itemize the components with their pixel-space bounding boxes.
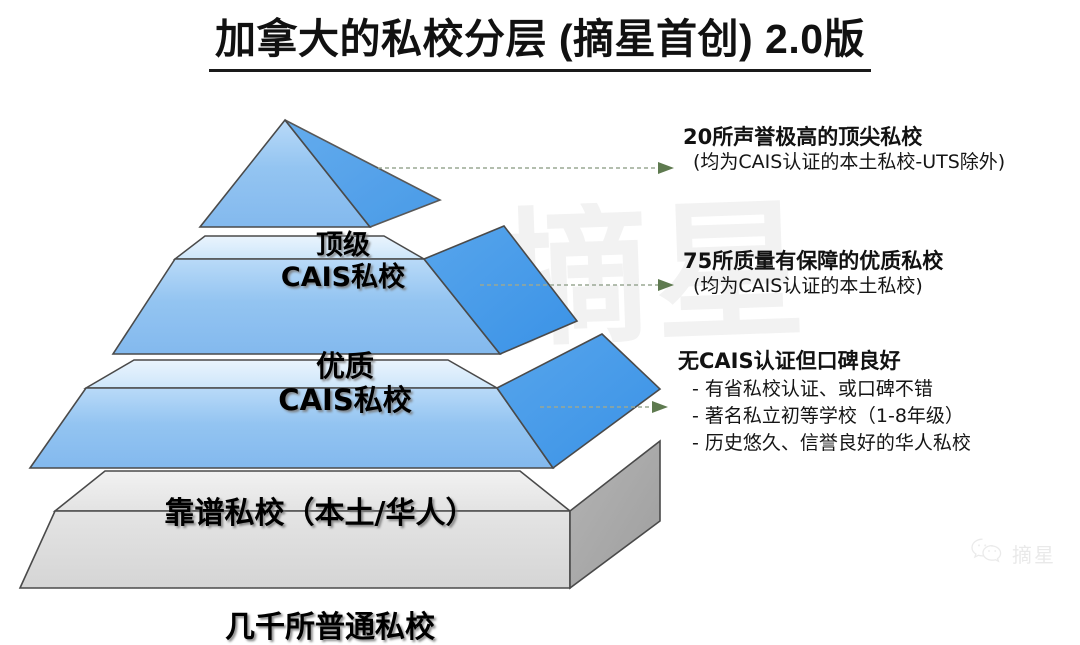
annotation-top-heading: 20所声誉极高的顶尖私校 (683, 124, 1005, 150)
wechat-icon (970, 537, 1004, 570)
annotation-reliable-bullet: - 历史悠久、信誉良好的华人私校 (678, 430, 971, 457)
title-container: 加拿大的私校分层 (摘星首创) 2.0版 (0, 14, 1080, 72)
tier-label-ordinary: 几千所普通私校 (95, 610, 565, 645)
annotation-reliable-bullet: - 有省私校认证、或口碑不错 (678, 376, 971, 403)
annotation-quality: 75所质量有保障的优质私校 (均为CAIS认证的本土私校) (683, 248, 943, 299)
page-title: 加拿大的私校分层 (摘星首创) 2.0版 (209, 14, 871, 72)
pyramid-tier-top (200, 120, 440, 227)
annotation-reliable-heading: 无CAIS认证但口碑良好 (678, 348, 971, 374)
annotation-reliable: 无CAIS认证但口碑良好 - 有省私校认证、或口碑不错 - 著名私立初等学校（1… (678, 348, 971, 457)
tier-label-ordinary-line1: 几千所普通私校 (95, 610, 565, 645)
annotation-top: 20所声誉极高的顶尖私校 (均为CAIS认证的本土私校-UTS除外) (683, 124, 1005, 175)
pyramid-diagram: 顶级 CAIS私校 优质 CAIS私校 靠谱私校（本土/华人） 几千所普通私校 (0, 96, 720, 604)
annotation-reliable-bullets: - 有省私校认证、或口碑不错 - 著名私立初等学校（1-8年级） - 历史悠久、… (678, 376, 971, 457)
annotation-quality-heading: 75所质量有保障的优质私校 (683, 248, 943, 274)
annotation-top-subtext: (均为CAIS认证的本土私校-UTS除外) (683, 150, 1005, 175)
annotation-reliable-bullet: - 著名私立初等学校（1-8年级） (678, 403, 971, 430)
corner-watermark-text: 摘星 (1012, 539, 1056, 568)
pyramid-tier-quality (113, 226, 577, 354)
corner-watermark: 摘星 (970, 537, 1056, 570)
annotation-quality-subtext: (均为CAIS认证的本土私校) (683, 274, 943, 299)
